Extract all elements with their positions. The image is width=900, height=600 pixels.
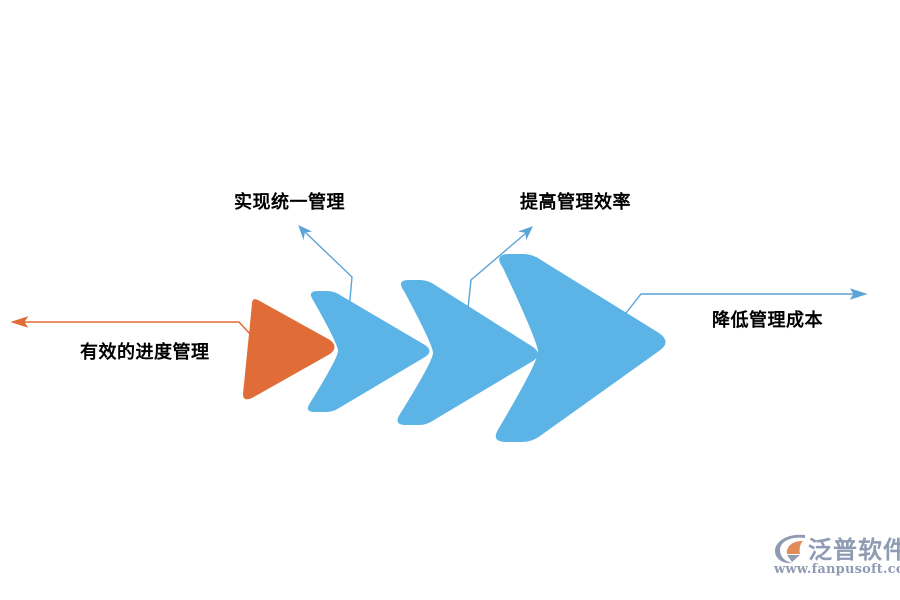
fanpu-logo-icon [772, 532, 808, 566]
label-effective-progress-management: 有效的进度管理 [80, 338, 210, 364]
watermark-brand: 泛普软件 [808, 530, 900, 565]
watermark-url: www.fanpusoft.com [774, 562, 900, 577]
diagram-canvas [0, 0, 900, 600]
logo-wedge-shape [787, 555, 800, 562]
chevron-1-shape [243, 299, 335, 399]
connector-left-line [22, 322, 250, 334]
chevron-1 [243, 299, 335, 399]
logo-arc-shape [787, 541, 803, 554]
connector-left [12, 317, 250, 334]
label-improve-efficiency: 提高管理效率 [520, 188, 631, 214]
label-unified-management: 实现统一管理 [234, 188, 345, 214]
label-reduce-cost: 降低管理成本 [712, 306, 823, 332]
watermark: 泛普软件 www.fanpusoft.com [772, 530, 892, 588]
